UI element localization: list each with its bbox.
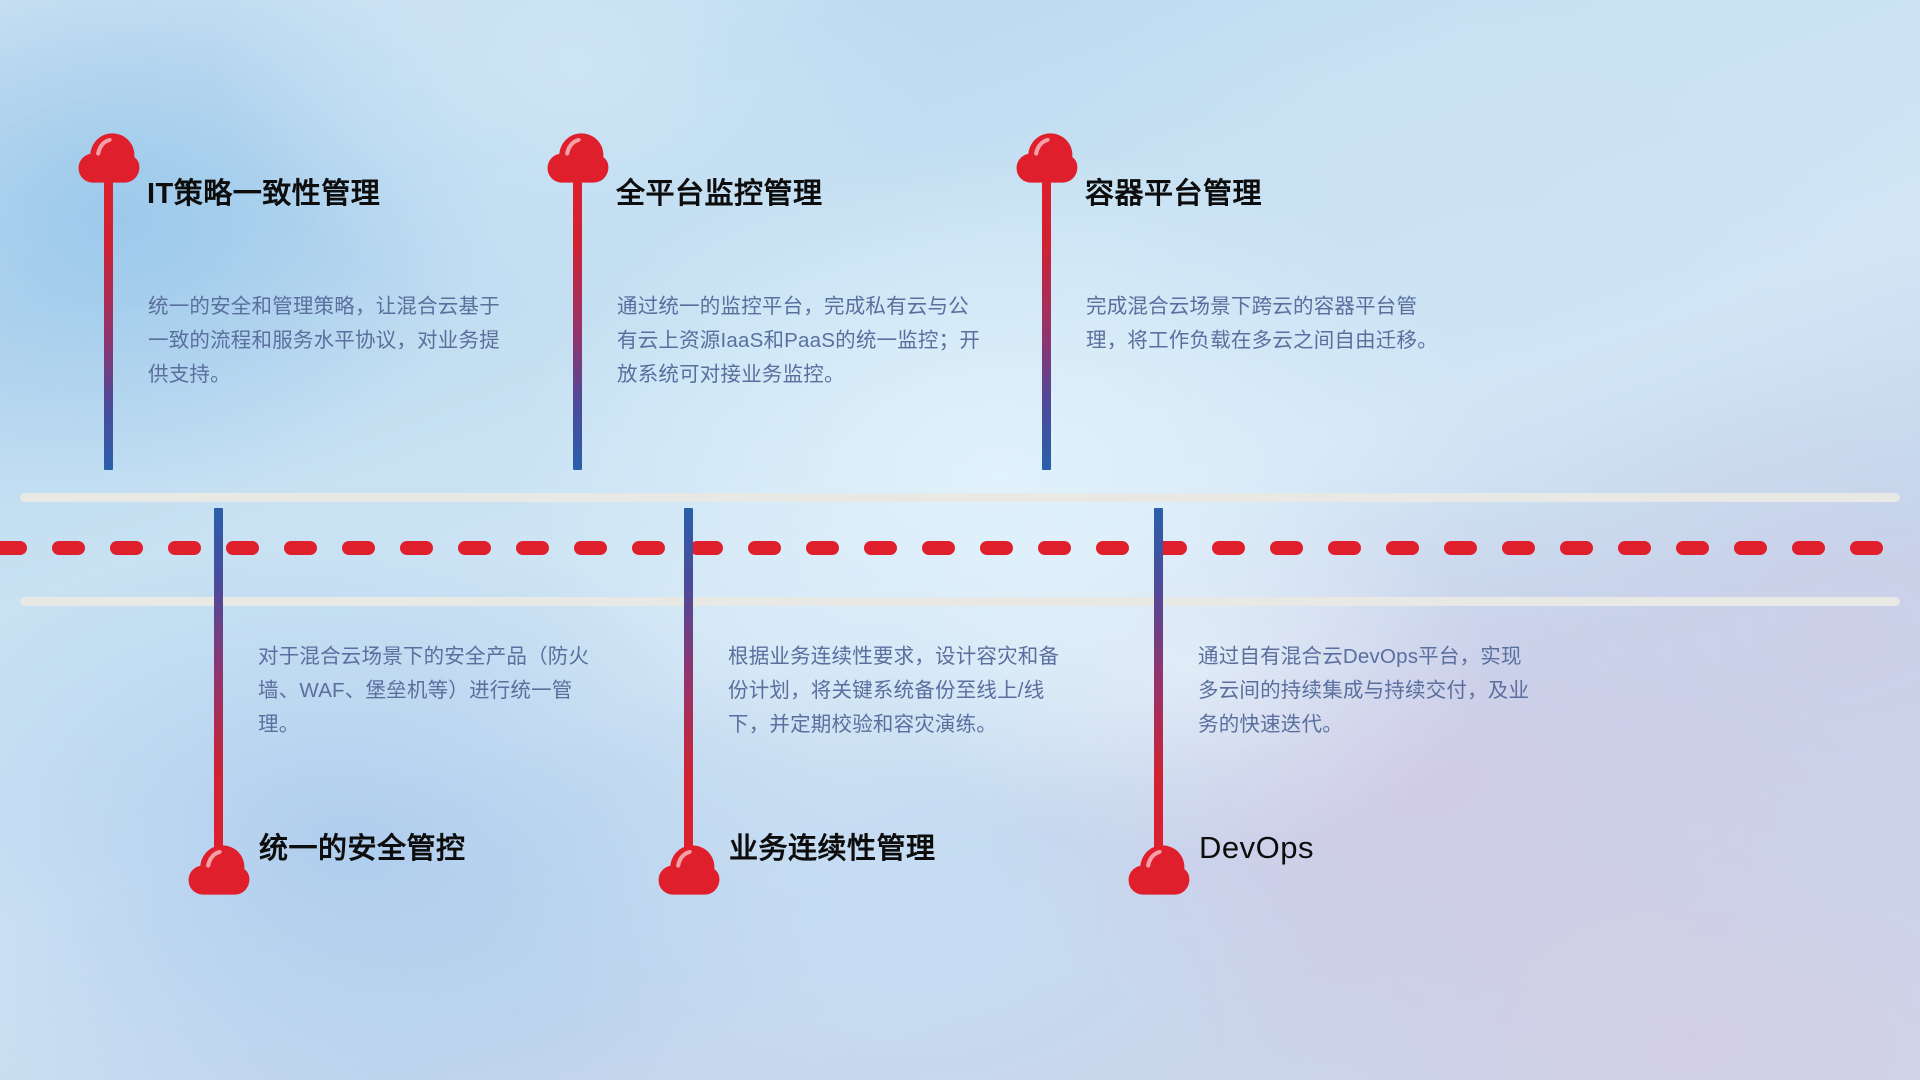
divider-dash [1618,541,1651,555]
background-blob-top-mid [0,0,1920,1080]
divider-dash [864,541,897,555]
connector-stem [1154,508,1163,848]
divider-rail-bottom [20,597,1900,606]
background-blob-center [0,0,1920,1080]
divider-dashed-line [0,541,1920,555]
background-base-gradient [0,0,1920,1080]
divider-dash [1734,541,1767,555]
divider-dash [52,541,85,555]
divider-dash [1560,541,1593,555]
divider-dash [1792,541,1825,555]
background-blob-bottom-left [0,0,1920,1080]
background-blob-right-edge [0,0,1920,1080]
divider-dash [632,541,665,555]
feature-title: 统一的安全管控 [259,835,466,864]
cloud-icon [188,845,250,895]
divider-dash [1270,541,1303,555]
divider-dash [400,541,433,555]
divider-dash [1444,541,1477,555]
divider-dash [574,541,607,555]
divider-dash [458,541,491,555]
feature-description: 根据业务连续性要求，设计容灾和备份计划，将关键系统备份至线上/线下，并定期校验和… [728,640,1076,742]
divider-dash [748,541,781,555]
divider-dash [168,541,201,555]
divider-dash [1676,541,1709,555]
background-blob-violet [0,0,1920,1080]
feature-description: 统一的安全和管理策略，让混合云基于一致的流程和服务水平协议，对业务提供支持。 [148,290,500,392]
cloud-icon [658,845,720,895]
divider-dash [0,541,27,555]
feature-title: 业务连续性管理 [729,835,936,864]
divider-dash [226,541,259,555]
feature-title: IT策略一致性管理 [147,180,380,209]
cloud-icon [547,133,609,183]
divider-dash [806,541,839,555]
divider-dash [1038,541,1071,555]
feature-title: 容器平台管理 [1085,180,1262,209]
divider-dash [1386,541,1419,555]
divider-rail-top [20,493,1900,502]
divider-dash [342,541,375,555]
feature-description: 通过自有混合云DevOps平台，实现多云间的持续集成与持续交付，及业务的快速迭代… [1198,640,1538,742]
background-blob-highlight [0,0,1920,1080]
feature-description: 对于混合云场景下的安全产品（防火墙、WAF、堡垒机等）进行统一管理。 [258,640,610,742]
divider-dash [1850,541,1883,555]
connector-stem [1042,182,1051,470]
background-blob-top-left [0,0,1920,1080]
cloud-icon [1016,133,1078,183]
divider-dash [110,541,143,555]
divider-dash [1212,541,1245,555]
feature-title: 全平台监控管理 [616,180,823,209]
feature-description: 通过统一的监控平台，完成私有云与公有云上资源IaaS和PaaS的统一监控；开放系… [617,290,985,392]
connector-stem [104,182,113,470]
cloud-icon [78,133,140,183]
infographic-canvas: IT策略一致性管理 统一的安全和管理策略，让混合云基于一致的流程和服务水平协议，… [0,0,1920,1080]
divider-dash [1328,541,1361,555]
background-blob-top-right [0,0,1920,1080]
divider-dash [1096,541,1129,555]
divider-dash [284,541,317,555]
background-blob-bottom-mid [0,0,1920,1080]
divider-dash [690,541,723,555]
divider-dash [1502,541,1535,555]
feature-description: 完成混合云场景下跨云的容器平台管理，将工作负载在多云之间自由迁移。 [1086,290,1446,358]
divider-dash [980,541,1013,555]
feature-title: DevOps [1199,832,1314,863]
divider-dash [516,541,549,555]
divider-dash [922,541,955,555]
cloud-icon [1128,845,1190,895]
connector-stem [573,182,582,470]
connector-stem [684,508,693,848]
connector-stem [214,508,223,848]
background-blob-corner [0,0,1920,1080]
